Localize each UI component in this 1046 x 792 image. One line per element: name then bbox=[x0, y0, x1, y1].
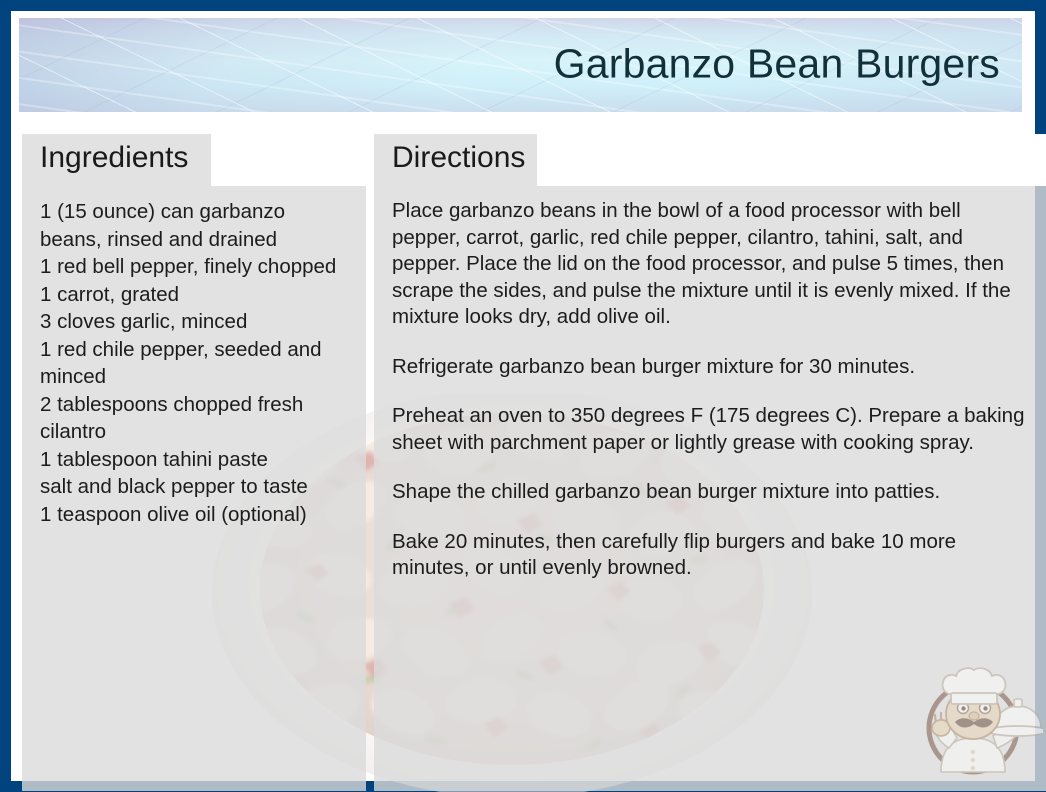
direction-step: Refrigerate garbanzo bean burger mixture… bbox=[392, 354, 1033, 381]
list-item: 3 cloves garlic, minced bbox=[40, 308, 352, 336]
directions-body: Place garbanzo beans in the bowl of a fo… bbox=[392, 198, 1033, 582]
card-paper: Garbanzo Bean Burgers bbox=[11, 11, 1035, 781]
ingredients-heading: Ingredients bbox=[40, 141, 188, 175]
ingredients-body: 1 (15 ounce) can garbanzo beans, rinsed … bbox=[40, 198, 352, 528]
title-banner: Garbanzo Bean Burgers bbox=[19, 18, 1022, 112]
list-item: 1 red bell pepper, finely chopped bbox=[40, 253, 352, 281]
direction-step: Preheat an oven to 350 degrees F (175 de… bbox=[392, 403, 1033, 456]
recipe-card: Garbanzo Bean Burgers bbox=[0, 0, 1046, 792]
list-item: 2 tablespoons chopped fresh cilantro bbox=[40, 391, 352, 446]
direction-step: Place garbanzo beans in the bowl of a fo… bbox=[392, 198, 1033, 331]
list-item: 1 (15 ounce) can garbanzo beans, rinsed … bbox=[40, 198, 352, 253]
list-item: 1 teaspoon olive oil (optional) bbox=[40, 501, 352, 529]
list-item: 1 carrot, grated bbox=[40, 281, 352, 309]
page-title: Garbanzo Bean Burgers bbox=[554, 41, 1000, 88]
direction-step: Shape the chilled garbanzo bean burger m… bbox=[392, 479, 1033, 506]
directions-heading: Directions bbox=[392, 141, 525, 175]
directions-panel: Directions Place garbanzo beans in the b… bbox=[374, 134, 1046, 791]
list-item: 1 tablespoon tahini paste bbox=[40, 446, 352, 474]
ingredients-panel: Ingredients 1 (15 ounce) can garbanzo be… bbox=[22, 134, 366, 791]
list-item: salt and black pepper to taste bbox=[40, 473, 352, 501]
ingredient-list: 1 (15 ounce) can garbanzo beans, rinsed … bbox=[40, 198, 352, 528]
direction-step: Bake 20 minutes, then carefully flip bur… bbox=[392, 529, 1033, 582]
directions-tab-notch bbox=[537, 134, 1046, 186]
ingredients-tab-notch bbox=[211, 134, 366, 186]
list-item: 1 red chile pepper, seeded and minced bbox=[40, 336, 352, 391]
